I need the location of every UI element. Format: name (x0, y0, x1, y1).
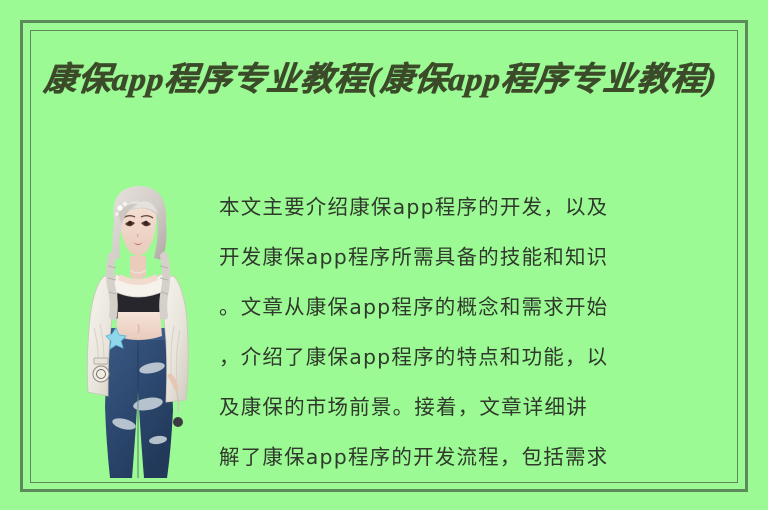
anime-girl-illustration (74, 178, 202, 480)
page-title: 康保app程序专业教程(康保app程序专业教程) (41, 58, 722, 102)
body-line: 开发康保app程序所需具备的技能和知识 (219, 232, 731, 282)
body-line: 本文主要介绍康保app程序的开发，以及 (219, 182, 731, 232)
body-line: ，介绍了康保app程序的特点和功能，以 (219, 332, 731, 382)
body-line: 。文章从康保app程序的概念和需求开始 (219, 282, 731, 332)
body-line: 及康保的市场前景。接着，文章详细讲 (219, 382, 731, 432)
poster-canvas: 康保app程序专业教程(康保app程序专业教程) (0, 0, 768, 510)
body-line: 解了康保app程序的开发流程，包括需求 (219, 432, 731, 482)
jacket-badge (93, 358, 109, 382)
body-paragraph: 本文主要介绍康保app程序的开发，以及 开发康保app程序所需具备的技能和知识 … (219, 182, 731, 482)
